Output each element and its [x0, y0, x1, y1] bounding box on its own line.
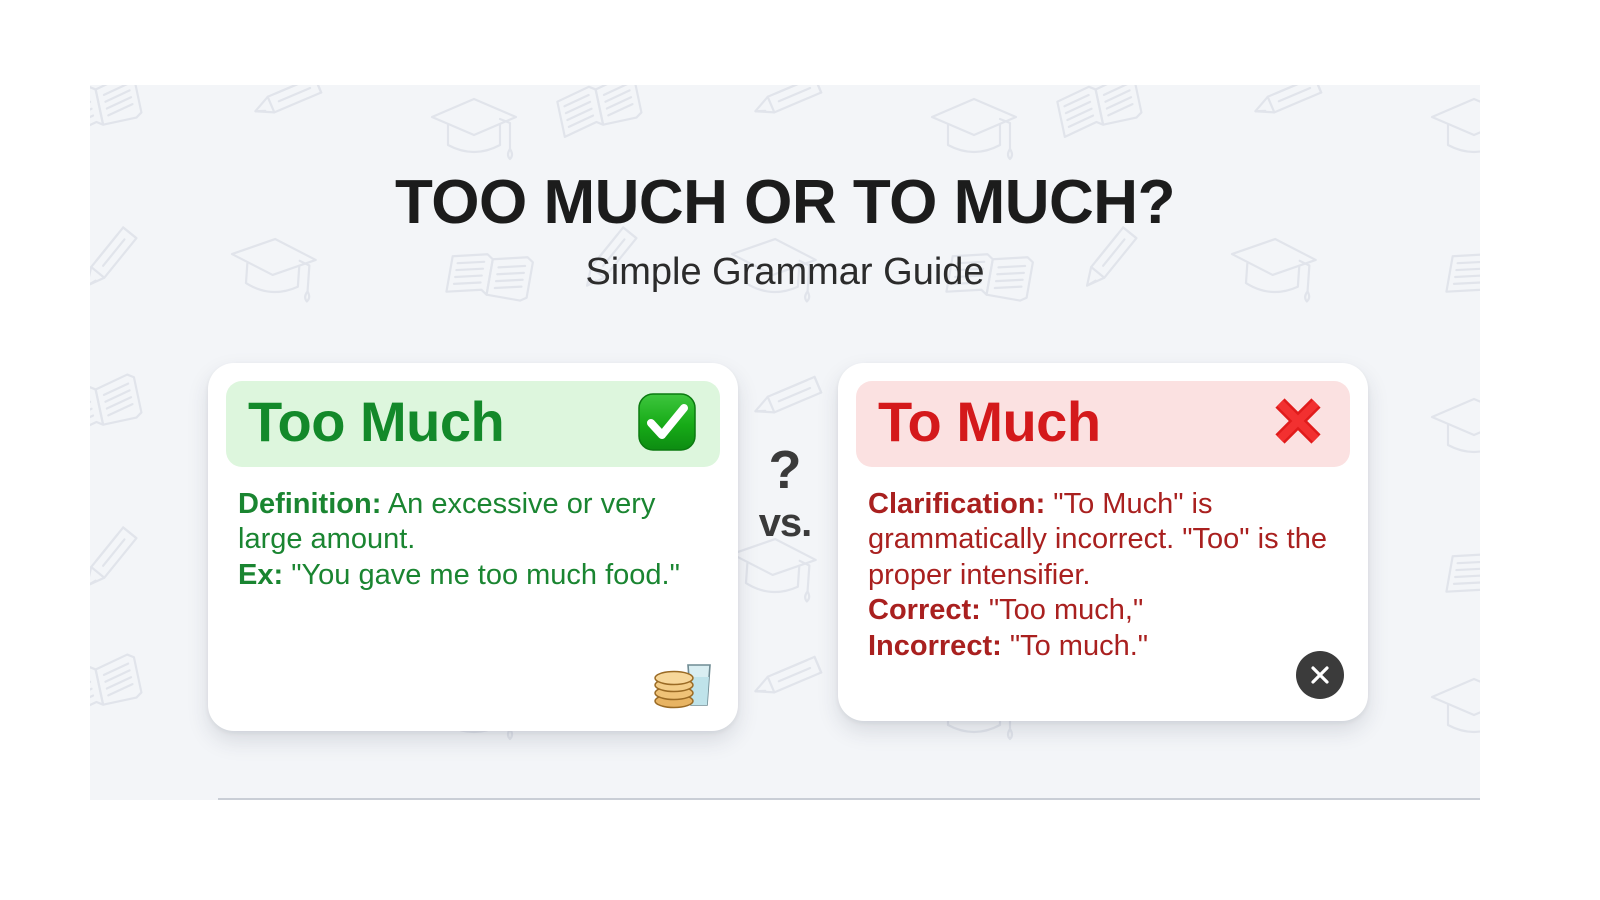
- pill-label-too-much: Too Much: [248, 391, 504, 453]
- definition-label: Definition:: [238, 488, 381, 520]
- question-mark-label: ?: [733, 443, 837, 497]
- clarification-label: Clarification:: [868, 488, 1045, 520]
- incorrect-text: "To much.": [1002, 630, 1148, 662]
- correct-text: "Too much,": [981, 594, 1143, 626]
- cross-mark-icon: [1266, 391, 1328, 453]
- check-mark-button-icon: [636, 391, 698, 453]
- correct-line: Correct: "Too much,": [868, 593, 1338, 628]
- correct-label: Correct:: [868, 594, 981, 626]
- card-header-pill-correct: Too Much: [226, 381, 720, 467]
- pill-label-to-much: To Much: [878, 391, 1101, 453]
- infographic-canvas: TOO MUCH OR TO MUCH? Simple Grammar Guid…: [0, 0, 1600, 900]
- versus-divider: ? vs.: [733, 443, 837, 543]
- definition-line: Definition: An excessive or very large a…: [238, 487, 708, 558]
- incorrect-line: Incorrect: "To much.": [868, 629, 1338, 664]
- clarification-line: Clarification: "To Much" is grammaticall…: [868, 487, 1338, 593]
- pancakes-and-glass-icon: [652, 655, 714, 711]
- card-to-much[interactable]: To Much Clarification: "To Much" is gram…: [838, 363, 1368, 721]
- bottom-divider-rule: [218, 798, 1480, 800]
- comparison-cards: Too Much: [90, 85, 1480, 800]
- incorrect-label: Incorrect:: [868, 630, 1002, 662]
- close-circle-icon[interactable]: [1296, 651, 1344, 699]
- infographic-panel: TOO MUCH OR TO MUCH? Simple Grammar Guid…: [90, 85, 1480, 800]
- example-line: Ex: "You gave me too much food.": [238, 558, 708, 593]
- card-too-much[interactable]: Too Much: [208, 363, 738, 731]
- card-body-incorrect: Clarification: "To Much" is grammaticall…: [856, 487, 1350, 664]
- card-body-correct: Definition: An excessive or very large a…: [226, 487, 720, 593]
- card-header-pill-incorrect: To Much: [856, 381, 1350, 467]
- versus-label: vs.: [733, 503, 837, 543]
- example-text: "You gave me too much food.": [283, 559, 680, 591]
- example-label: Ex:: [238, 559, 283, 591]
